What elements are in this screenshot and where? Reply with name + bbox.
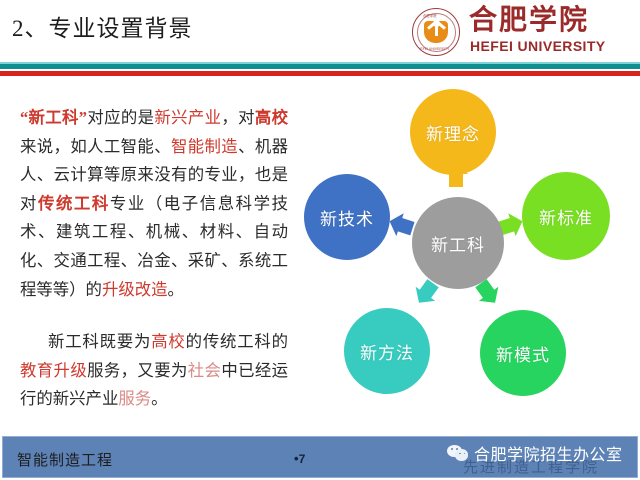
p1-seg12: 。 xyxy=(168,280,184,299)
watermark-text: 合肥学院招生办公室 xyxy=(474,441,623,465)
body-text-block: “新工科”对应的是新兴产业，对高校来说，如人工智能、智能制造、机器人、云计算等原… xyxy=(20,104,288,414)
diagram-node-new-model[interactable]: 新模式 xyxy=(480,310,566,396)
p1-seg6: 来说，如人工智能、 xyxy=(20,137,171,156)
node-label: 新标准 xyxy=(539,204,593,229)
wechat-bubble-small xyxy=(455,449,468,461)
p1-quoted-term: “新工科” xyxy=(20,108,87,127)
p1-highlight-traditional-engineering: 传统工科 xyxy=(38,194,110,213)
p2-seg3: 的传统工科的 xyxy=(186,332,288,351)
page-title: 2、专业设置背景 xyxy=(12,9,193,43)
node-label: 新工科 xyxy=(431,231,485,256)
slide-footer: 智能制造工程 •7 先进制造工程学院 合肥学院招生办公室 xyxy=(2,436,638,478)
node-label: 新技术 xyxy=(320,205,374,230)
diagram-node-center[interactable]: 新工科 xyxy=(412,197,504,289)
node-label: 新方法 xyxy=(360,339,414,364)
page-number-value: 7 xyxy=(299,452,306,466)
paragraph-2: 新工科既要为高校的传统工科的教育升级服务，又要为社会中已经运行的新兴产业服务。 xyxy=(20,328,288,414)
wechat-dot-1 xyxy=(451,448,453,450)
p2-seg1: 新工科既要为 xyxy=(48,332,151,351)
p1-highlight-universities: 高校 xyxy=(255,108,288,127)
emblem-arc-text-cn: 合肥学院 xyxy=(423,13,437,18)
p2-highlight-education-upgrade: 教育升级 xyxy=(20,361,87,380)
node-label: 新模式 xyxy=(496,341,550,366)
diagram-node-new-technology[interactable]: 新技术 xyxy=(304,174,390,260)
slide-canvas: 2、专业设置背景 合肥学院 HEFEI UNIVERSITY 合肥学院 HEFE… xyxy=(0,0,640,480)
radial-diagram: 新理念 新标准 新模式 新方法 新技术 新工科 xyxy=(300,84,636,406)
logo-name-cn: 合肥学院 xyxy=(469,6,589,36)
p1-highlight-smart-manufacturing: 智能制造 xyxy=(171,137,238,156)
slide-header: 2、专业设置背景 合肥学院 HEFEI UNIVERSITY 合肥学院 HEFE… xyxy=(0,0,640,62)
diagram-node-new-concept[interactable]: 新理念 xyxy=(410,89,496,175)
p1-seg4: ，对 xyxy=(221,108,255,127)
node-label: 新理念 xyxy=(426,120,480,145)
wechat-icon xyxy=(447,445,469,462)
diagram-node-new-method[interactable]: 新方法 xyxy=(344,308,430,394)
page-number: •7 xyxy=(294,451,305,466)
paragraph-1: “新工科”对应的是新兴产业，对高校来说，如人工智能、智能制造、机器人、云计算等原… xyxy=(20,104,288,304)
p1-highlight-new-industry: 新兴产业 xyxy=(154,108,221,127)
diagram-node-new-standard[interactable]: 新标准 xyxy=(522,172,610,260)
p2-seg9: 。 xyxy=(151,389,167,408)
hefei-university-emblem-icon: 合肥学院 HEFEI UNIVERSITY xyxy=(412,8,460,56)
p2-seg5: 服务，又要为 xyxy=(87,361,188,380)
wechat-dot-2 xyxy=(456,448,458,450)
p2-highlight-society: 社会 xyxy=(188,361,222,380)
p2-highlight-service: 服务 xyxy=(118,389,151,408)
university-logo: 合肥学院 HEFEI UNIVERSITY 合肥学院 HEFEI UNIVERS… xyxy=(412,6,628,58)
p2-highlight-universities: 高校 xyxy=(151,332,185,351)
emblem-arc-text: 合肥学院 HEFEI UNIVERSITY xyxy=(413,9,459,55)
footer-program-label: 智能制造工程 xyxy=(17,449,113,470)
divider-red xyxy=(0,71,640,76)
emblem-arc-text-en: HEFEI UNIVERSITY xyxy=(418,47,449,51)
p1-seg2: 对应的是 xyxy=(87,108,154,127)
p1-highlight-upgrade: 升级改造 xyxy=(102,280,168,299)
wechat-watermark: 合肥学院招生办公室 xyxy=(447,441,623,465)
logo-name-en: HEFEI UNIVERSITY xyxy=(470,39,606,54)
